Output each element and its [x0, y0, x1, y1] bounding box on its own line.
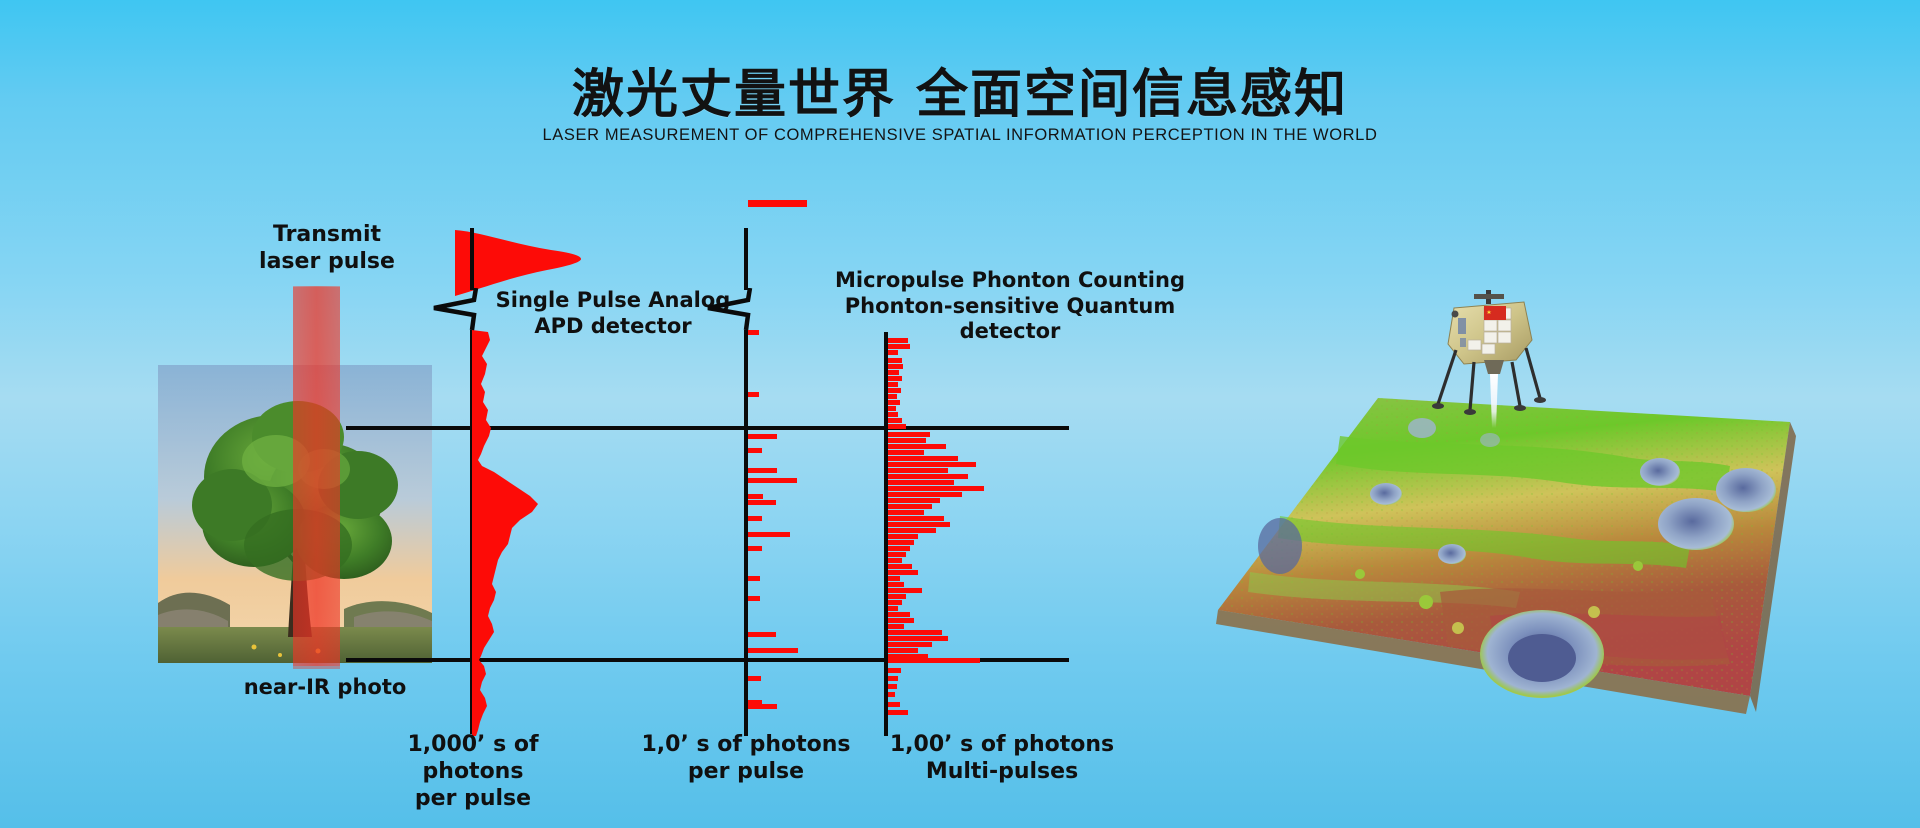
photon-bar — [888, 400, 900, 405]
photon-bar — [888, 612, 910, 617]
photon-bar — [888, 444, 946, 449]
plot2-vertical-axis-upper — [744, 228, 748, 290]
photon-bar — [888, 516, 944, 521]
photon-bar — [888, 564, 912, 569]
photon-bar — [888, 510, 924, 515]
photon-bar — [888, 394, 897, 399]
photon-bar — [888, 692, 895, 697]
photon-bar — [888, 418, 902, 423]
photon-bar — [888, 370, 899, 375]
photon-bar — [888, 648, 918, 653]
photon-bar — [888, 630, 942, 635]
photon-bar — [888, 558, 902, 563]
photon-bar — [748, 200, 807, 205]
photon-bar — [888, 552, 906, 557]
photon-bar — [888, 492, 962, 497]
photon-bar — [888, 570, 918, 575]
caption-3-line1: 1,00’ s of photons — [882, 732, 1122, 759]
photon-bar — [888, 438, 926, 443]
photon-bar — [748, 330, 759, 335]
photon-bar — [748, 448, 762, 453]
caption-plot-3: 1,00’ s of photons Multi-pulses — [882, 732, 1122, 786]
photon-bar — [748, 546, 762, 551]
photon-bar — [888, 582, 904, 587]
caption-plot-1: 1,000’ s of photons per pulse — [358, 732, 588, 812]
photon-bar — [748, 632, 776, 637]
photon-bar — [748, 434, 777, 439]
photon-bar — [748, 392, 759, 397]
photon-bar — [748, 516, 762, 521]
photon-bar — [888, 540, 914, 545]
photon-bar — [888, 468, 948, 473]
photon-bar — [888, 624, 904, 629]
photon-bar — [888, 504, 932, 509]
transmit-laser-pulse-label: Transmit laser pulse — [232, 222, 422, 276]
caption-2-line1: 1,0’ s of photons — [636, 732, 856, 759]
detector-c-label: Micropulse Phonton Counting Phonton-sens… — [800, 268, 1220, 345]
transmit-label-line1: Transmit — [232, 222, 422, 249]
photon-bar — [888, 350, 898, 355]
photon-bar — [888, 702, 900, 707]
detector-c-line1: Micropulse Phonton Counting — [800, 268, 1220, 294]
photon-bar — [888, 576, 900, 581]
photon-bar — [888, 684, 897, 689]
photon-bar — [888, 450, 924, 455]
photon-bar — [888, 364, 903, 369]
photon-bar — [748, 700, 762, 705]
caption-plot-2: 1,0’ s of photons per pulse — [636, 732, 856, 786]
axis-break-2 — [704, 288, 770, 332]
photon-bar — [888, 412, 898, 417]
lander-svg — [1428, 288, 1568, 438]
transmit-label-line2: laser pulse — [232, 249, 422, 276]
photon-bar — [888, 594, 906, 599]
photon-bar — [888, 382, 898, 387]
photon-bar — [888, 588, 922, 593]
terrain-svg — [1190, 396, 1830, 746]
canopy-reference-line — [346, 426, 1069, 430]
photon-bar — [888, 642, 932, 647]
page-subtitle: LASER MEASUREMENT OF COMPREHENSIVE SPATI… — [0, 126, 1920, 145]
photon-bar — [748, 494, 763, 499]
photon-bar — [888, 376, 902, 381]
photon-bar — [888, 358, 902, 363]
photon-bar — [888, 606, 898, 611]
photon-bar — [748, 648, 798, 653]
lunar-lander — [1428, 288, 1538, 408]
photon-bar — [748, 596, 760, 601]
lidar-terrain-model — [1190, 396, 1830, 746]
photon-bar — [888, 668, 901, 673]
photon-bar — [888, 486, 984, 491]
photon-bar — [888, 388, 901, 393]
caption-3-line2: Multi-pulses — [882, 759, 1122, 786]
plot1-vertical-axis — [470, 228, 474, 290]
photon-bar — [748, 576, 760, 581]
photon-bar — [888, 480, 954, 485]
photon-bar — [888, 432, 930, 437]
photon-bar — [888, 546, 910, 551]
photon-bar — [888, 462, 976, 467]
photon-bar — [888, 474, 968, 479]
photon-bar — [888, 406, 896, 411]
photon-bar — [888, 534, 918, 539]
caption-1-line2: per pulse — [358, 786, 588, 813]
photon-bar — [888, 528, 936, 533]
photon-bar — [888, 456, 958, 461]
photon-bar — [888, 600, 902, 605]
caption-1-line1: 1,000’ s of photons — [358, 732, 588, 786]
photon-bar — [888, 618, 914, 623]
photon-bar — [888, 522, 950, 527]
poster-canvas: 激光丈量世界 全面空间信息感知 LASER MEASUREMENT OF COM… — [0, 0, 1920, 828]
photon-bar — [888, 710, 908, 715]
analog-return-waveform — [472, 330, 652, 736]
photon-bar — [748, 676, 761, 681]
near-ir-photo-label: near-IR photo — [205, 675, 445, 701]
photon-bar — [888, 636, 948, 641]
photon-bar — [748, 532, 790, 537]
photon-bar — [888, 498, 940, 503]
caption-2-line2: per pulse — [636, 759, 856, 786]
transmit-beam-column — [293, 286, 340, 666]
photon-bar — [748, 468, 777, 473]
photon-bar — [888, 658, 980, 663]
detector-c-line2: Phonton-sensitive Quantum detector — [800, 294, 1220, 345]
photon-bar — [748, 478, 797, 483]
photon-bar — [888, 424, 906, 429]
photon-bar — [888, 676, 898, 681]
photon-bar — [748, 500, 776, 505]
page-title: 激光丈量世界 全面空间信息感知 — [0, 52, 1920, 127]
